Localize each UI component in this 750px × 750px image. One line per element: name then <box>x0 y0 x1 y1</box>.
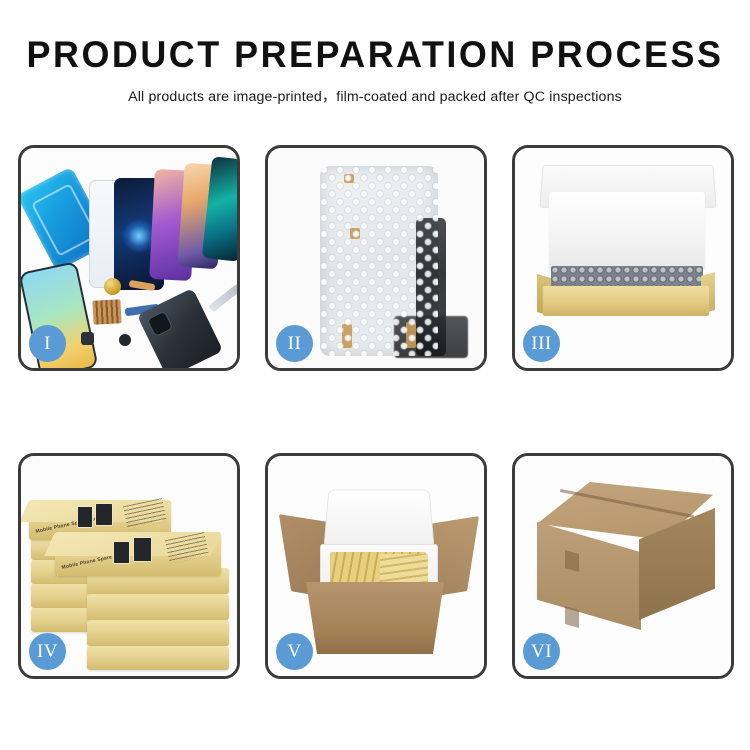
step-panel-2: II <box>265 145 487 371</box>
bubble-texture <box>320 166 438 356</box>
bubble-wrap-bag-graphic <box>320 166 438 356</box>
box-thumbnail-2 <box>95 503 113 526</box>
box-front-graphic <box>543 286 709 316</box>
step-badge-1: I <box>29 325 66 362</box>
process-steps-grid: I II <box>18 145 734 679</box>
stacked-box <box>87 646 229 670</box>
carton-left-face-graphic <box>537 522 641 630</box>
carton-tape-upper <box>565 550 579 572</box>
page-subtitle: All products are image-printed，film-coat… <box>0 86 750 106</box>
camera-module-icon <box>81 332 94 345</box>
header: PRODUCT PREPARATION PROCESS All products… <box>0 0 750 106</box>
box-thumbnail-2 <box>133 537 152 562</box>
product-preparation-infographic: PRODUCT PREPARATION PROCESS All products… <box>0 0 750 750</box>
chip-array-icon <box>92 299 121 324</box>
carton-tape-lower <box>565 606 579 628</box>
page-title: PRODUCT PREPARATION PROCESS <box>11 36 739 75</box>
stacked-box <box>87 594 229 620</box>
step-panel-3: III <box>512 145 734 371</box>
speaker-module-icon <box>119 334 131 346</box>
step-badge-3: III <box>523 325 560 362</box>
step-panel-6: VI <box>512 453 734 679</box>
stacked-box-top-front: Mobile Phone Spare Parts <box>55 532 221 576</box>
box-thumbnail-1 <box>77 506 93 528</box>
stacked-box <box>87 620 229 646</box>
box-thumbnail-1 <box>113 541 130 564</box>
step-badge-5: V <box>276 633 313 670</box>
step-panel-5: V <box>265 453 487 679</box>
step-badge-6: VI <box>523 633 560 670</box>
tweezers-icon <box>208 284 237 312</box>
step-badge-4: IV <box>29 633 66 670</box>
foam-sheet-graphic <box>549 192 705 270</box>
carton-body-graphic <box>306 582 444 654</box>
step-badge-2: II <box>276 325 313 362</box>
coin-component-icon <box>104 278 121 295</box>
step-panel-4: Mobile Phone Spare Parts Mobile Phone Sp… <box>18 453 240 679</box>
step-panel-1: I <box>18 145 240 371</box>
foam-box-lid-graphic <box>323 490 434 549</box>
phone-back-housing-graphic <box>137 288 223 368</box>
